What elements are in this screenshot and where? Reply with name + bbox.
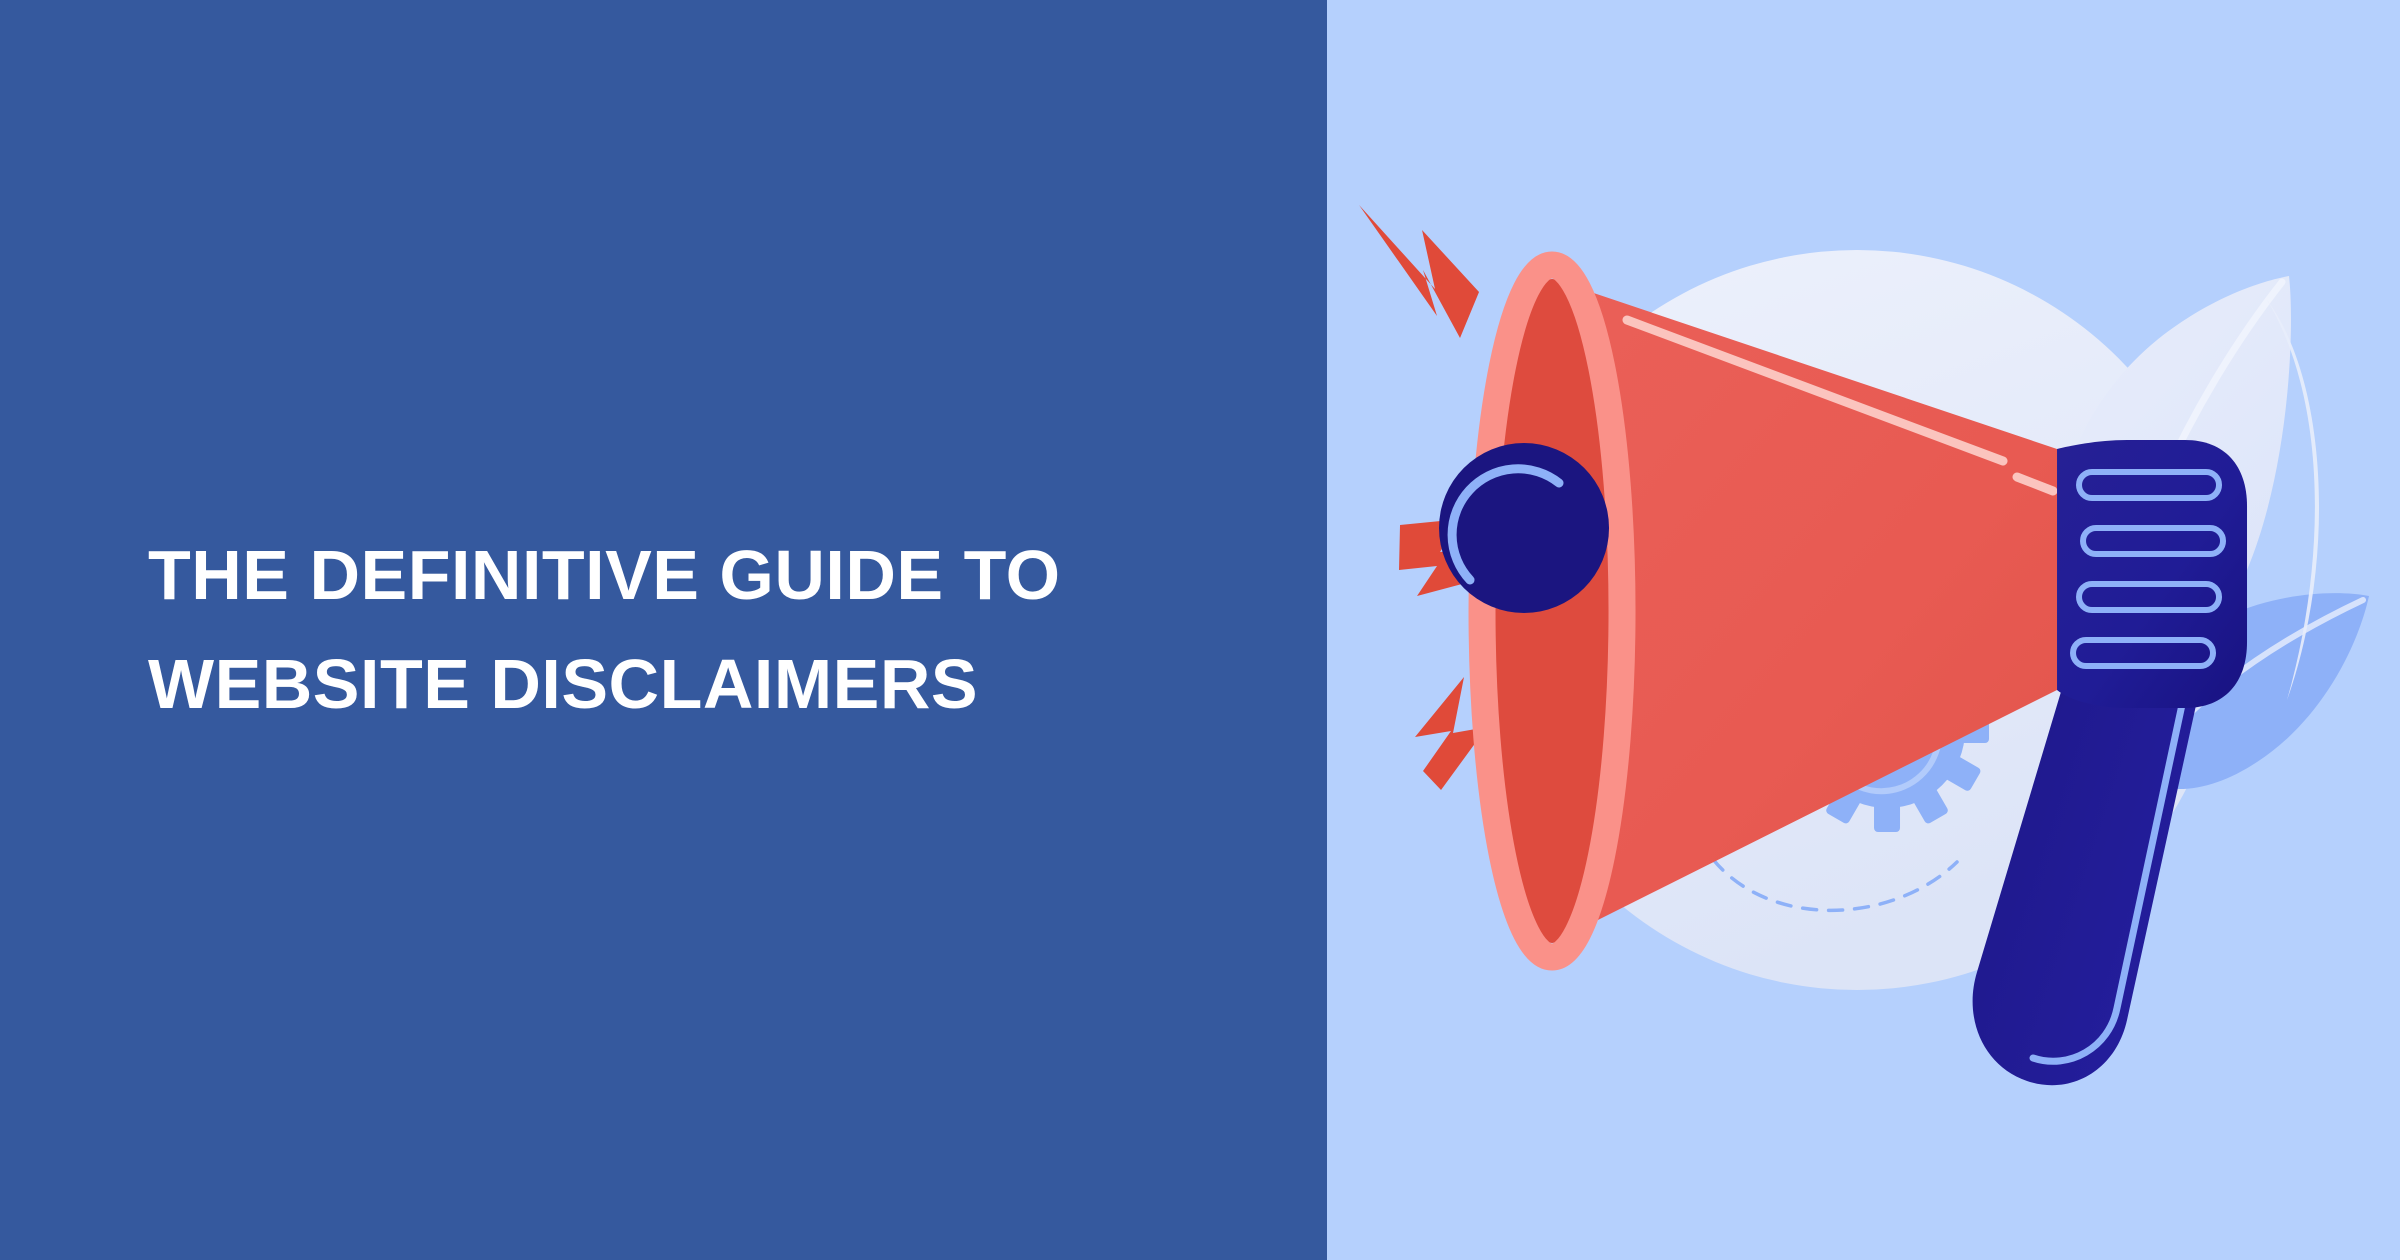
banner: THE DEFINITIVE GUIDE TO WEBSITE DISCLAIM… xyxy=(0,0,2400,1260)
right-illustration-panel xyxy=(1327,0,2400,1260)
page-title: THE DEFINITIVE GUIDE TO WEBSITE DISCLAIM… xyxy=(0,521,1327,739)
left-text-panel: THE DEFINITIVE GUIDE TO WEBSITE DISCLAIM… xyxy=(0,0,1327,1260)
lightning-bolt-top xyxy=(1359,205,1479,338)
megaphone-illustration xyxy=(1327,0,2400,1260)
